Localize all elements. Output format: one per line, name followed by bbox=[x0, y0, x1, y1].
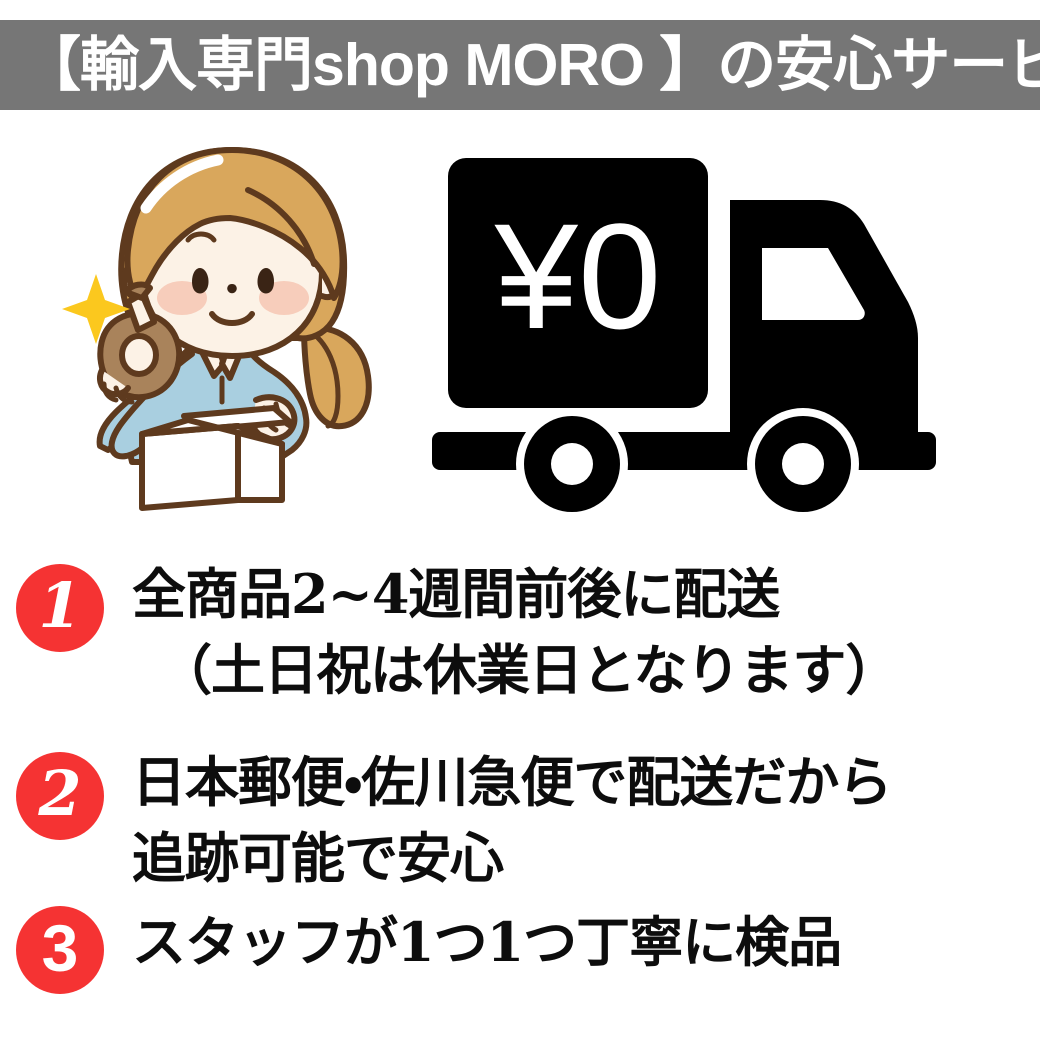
banner-title: 【輸入専門shop MORO 】の安心サービス bbox=[0, 20, 1040, 110]
benefit-line: （土日祝は休業日となります） bbox=[132, 632, 1040, 708]
benefit-badge-3: 3 bbox=[16, 906, 104, 994]
header-banner: 【輸入専門shop MORO 】の安心サービス bbox=[0, 20, 1040, 110]
badge-number: 3 bbox=[16, 906, 104, 994]
staff-woman-svg bbox=[42, 132, 422, 532]
benefit-text-2: 日本郵便・佐川急便で配送だから 追跡可能で安心 bbox=[132, 744, 1040, 896]
illustration-area: ¥0 bbox=[0, 128, 1040, 548]
truck-svg: ¥0 bbox=[420, 142, 1020, 512]
truck-price-label: ¥0 bbox=[494, 192, 662, 360]
benefit-item-1: 1 全商品2~4週間前後に配送 （土日祝は休業日となります） bbox=[0, 556, 1040, 708]
promo-banner-page: 【輸入専門shop MORO 】の安心サービス bbox=[0, 0, 1040, 1040]
benefit-item-3: 3 スタッフが1つ1つ丁寧に検品 bbox=[0, 898, 1040, 994]
badge-number: 2 bbox=[16, 752, 104, 840]
benefit-line: 追跡可能で安心 bbox=[132, 820, 1040, 896]
staff-woman-illustration bbox=[42, 132, 422, 532]
benefit-text-1: 全商品2~4週間前後に配送 （土日祝は休業日となります） bbox=[132, 556, 1040, 708]
benefit-item-2: 2 日本郵便・佐川急便で配送だから 追跡可能で安心 bbox=[0, 744, 1040, 896]
benefit-line: 全商品2~4週間前後に配送 bbox=[132, 556, 1040, 632]
free-shipping-truck-illustration: ¥0 bbox=[420, 142, 1020, 512]
benefits-list: 1 全商品2~4週間前後に配送 （土日祝は休業日となります） 2 日本郵便・佐川… bbox=[0, 548, 1040, 1040]
benefit-text-3: スタッフが1つ1つ丁寧に検品 bbox=[132, 904, 1040, 980]
benefit-badge-1: 1 bbox=[16, 564, 104, 652]
badge-number: 1 bbox=[16, 564, 104, 652]
benefit-badge-2: 2 bbox=[16, 752, 104, 840]
benefit-line: スタッフが1つ1つ丁寧に検品 bbox=[132, 904, 1040, 980]
benefit-line: 日本郵便・佐川急便で配送だから bbox=[132, 744, 1040, 820]
